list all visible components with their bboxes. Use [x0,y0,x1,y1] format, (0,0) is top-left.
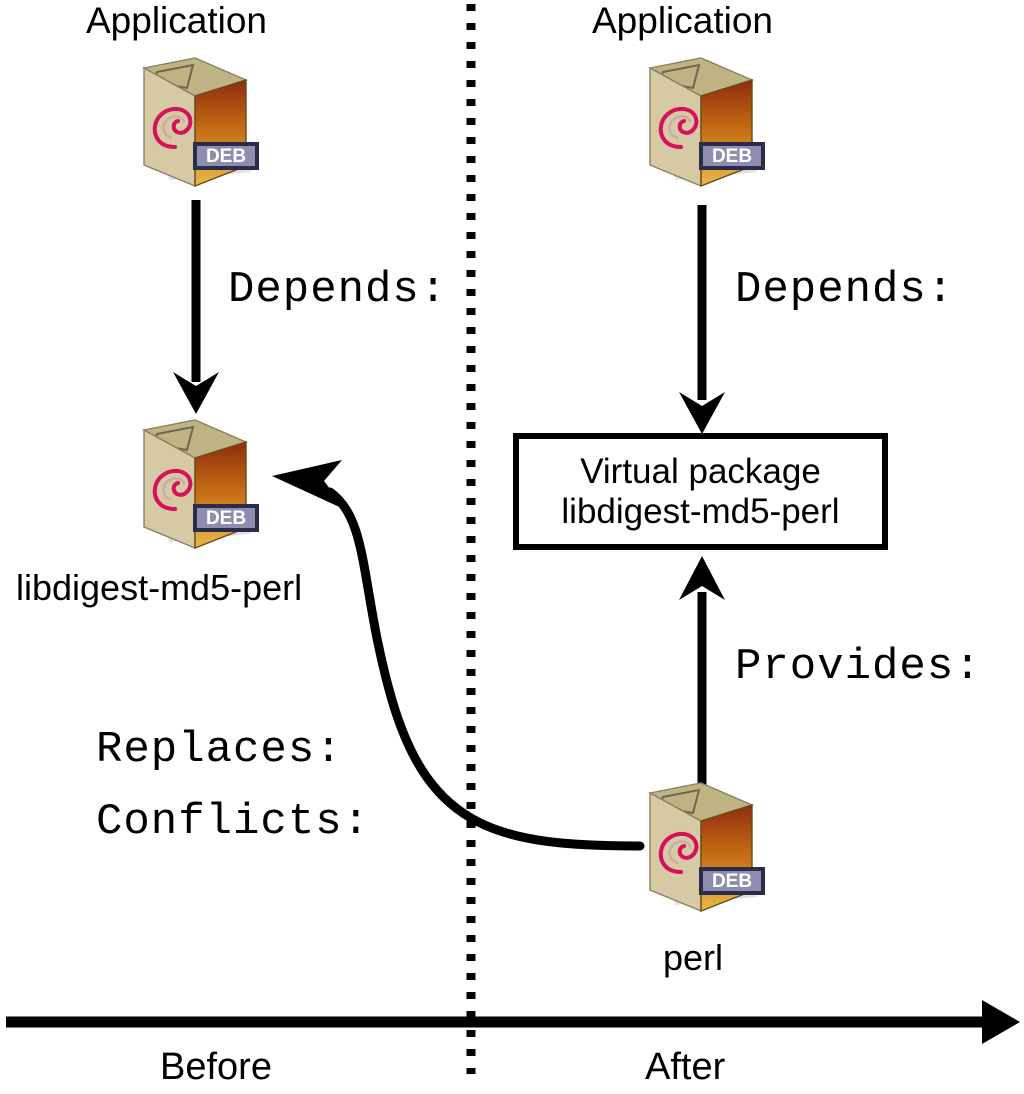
timeline-axis [6,1000,1020,1044]
virtual-package-line-1: Virtual package [580,452,821,491]
timeline-before-label: Before [160,1048,272,1086]
deb-badge: DEB [193,504,259,532]
provides-label: Provides: [735,645,982,689]
after-application-label: Application [592,2,773,39]
deb-package-icon-perl: DEB [623,775,773,925]
deb-package-icon-before-application: DEB [117,50,267,200]
before-application-label: Application [86,2,267,39]
arrow-provides [679,556,725,790]
arrow-after-depends [679,205,725,434]
deb-badge: DEB [699,142,765,170]
deb-package-icon-libdigest-md5-perl: DEB [117,412,267,562]
libdigest-md5-perl-package-label: libdigest-md5-perl [16,570,302,606]
after-depends-label: Depends: [735,268,954,312]
deb-badge: DEB [193,142,259,170]
virtual-package-line-2: libdigest-md5-perl [561,492,839,531]
before-depends-label: Depends: [228,268,447,312]
svg-text:DEB: DEB [206,508,246,529]
perl-package-label: perl [663,940,723,976]
timeline-after-label: After [645,1048,725,1086]
deb-badge: DEB [699,867,765,895]
svg-text:DEB: DEB [206,146,246,167]
virtual-package-box: Virtual package libdigest-md5-perl [513,433,888,550]
svg-text:DEB: DEB [712,146,752,167]
svg-text:DEB: DEB [712,871,752,892]
replaces-label: Replaces: [96,728,343,772]
diagram-canvas: Application [0,0,1024,1094]
deb-package-icon-after-application: DEB [623,50,773,200]
arrow-before-depends [173,200,219,414]
conflicts-label: Conflicts: [96,800,370,844]
